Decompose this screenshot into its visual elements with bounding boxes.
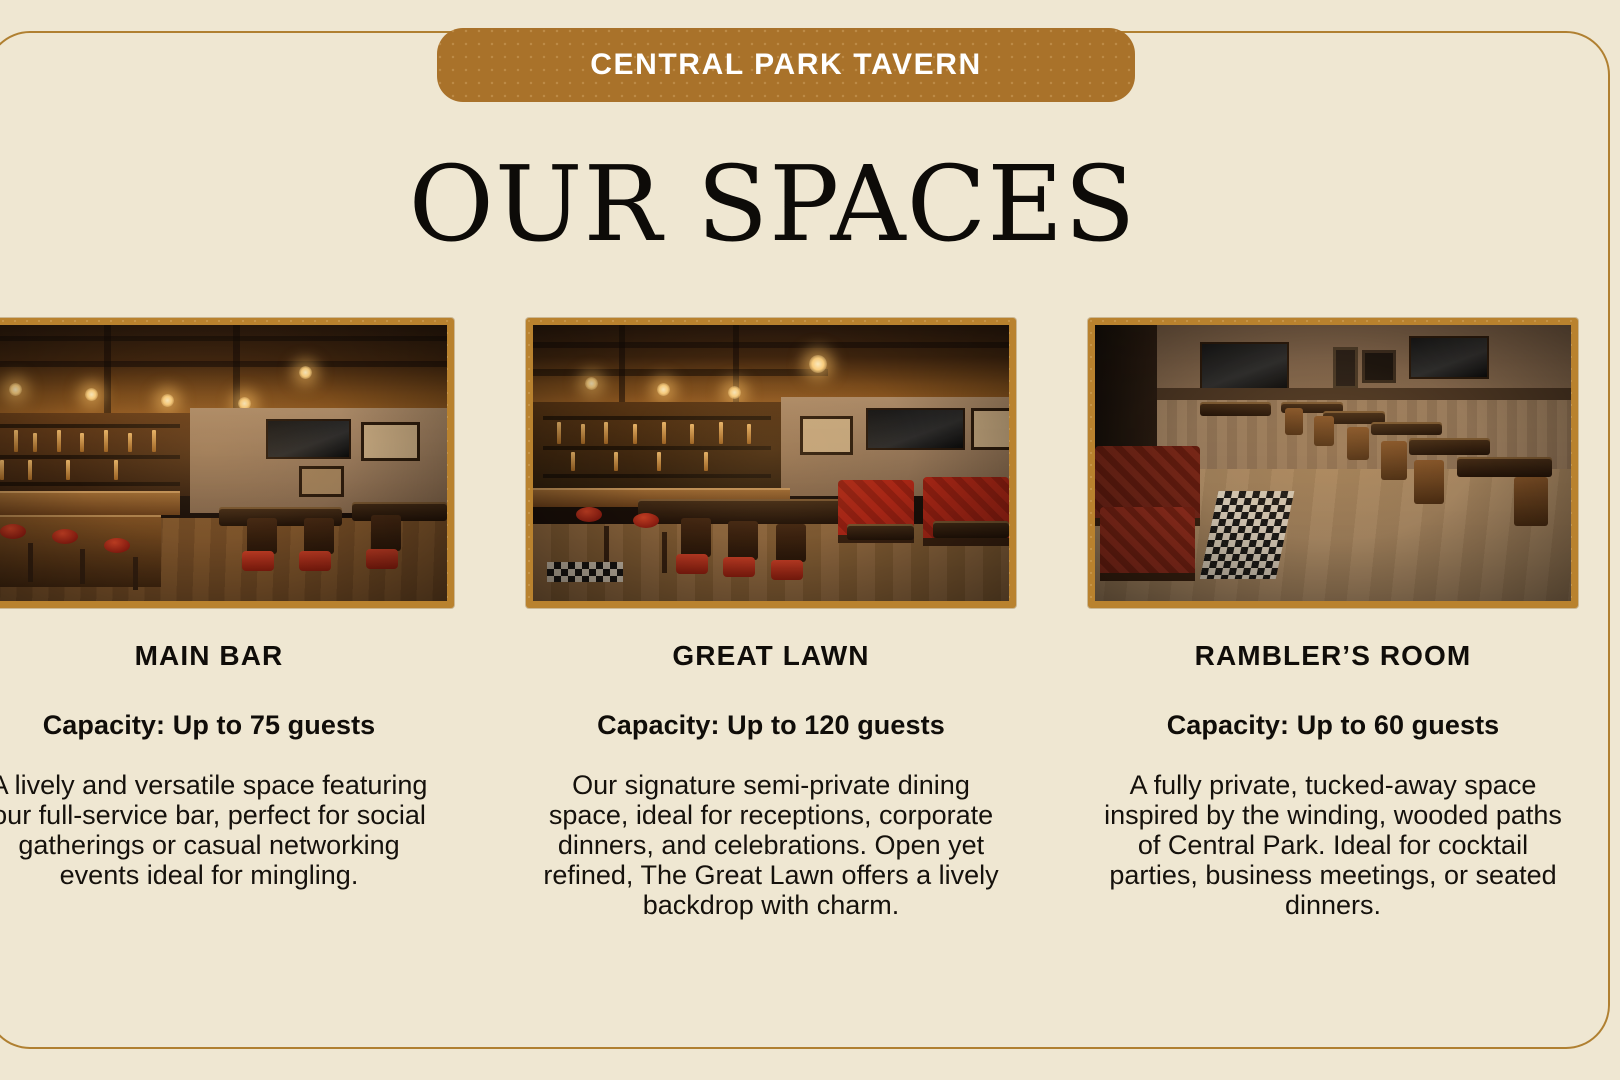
space-name: MAIN BAR [135,640,284,672]
space-name: GREAT LAWN [672,640,869,672]
space-photo-frame [1088,318,1578,608]
space-capacity: Capacity: Up to 75 guests [43,710,376,741]
space-description: Our signature semi-private dining space,… [536,771,1006,921]
slide-canvas: CENTRAL PARK TAVERN OUR SPACES [0,0,1620,1080]
space-photo-frame [526,318,1016,608]
space-photo-ramblers-room [1095,325,1571,601]
space-photo-great-lawn [533,325,1009,601]
page-title: OUR SPACES [0,148,1545,260]
brand-banner: CENTRAL PARK TAVERN [437,28,1135,102]
spaces-columns: MAIN BAR Capacity: Up to 75 guests A liv… [0,318,1620,921]
space-photo-frame [0,318,454,608]
space-name: RAMBLER’S ROOM [1195,640,1472,672]
space-card-main-bar: MAIN BAR Capacity: Up to 75 guests A liv… [0,318,490,891]
space-description: A fully private, tucked-away space inspi… [1098,771,1568,921]
space-photo-main-bar [0,325,447,601]
space-description: A lively and versatile space featuring o… [0,771,442,891]
space-capacity: Capacity: Up to 60 guests [1167,710,1500,741]
space-capacity: Capacity: Up to 120 guests [597,710,945,741]
brand-banner-title: CENTRAL PARK TAVERN [590,50,982,80]
space-card-ramblers-room: RAMBLER’S ROOM Capacity: Up to 60 guests… [1052,318,1614,921]
space-card-great-lawn: GREAT LAWN Capacity: Up to 120 guests Ou… [490,318,1052,921]
